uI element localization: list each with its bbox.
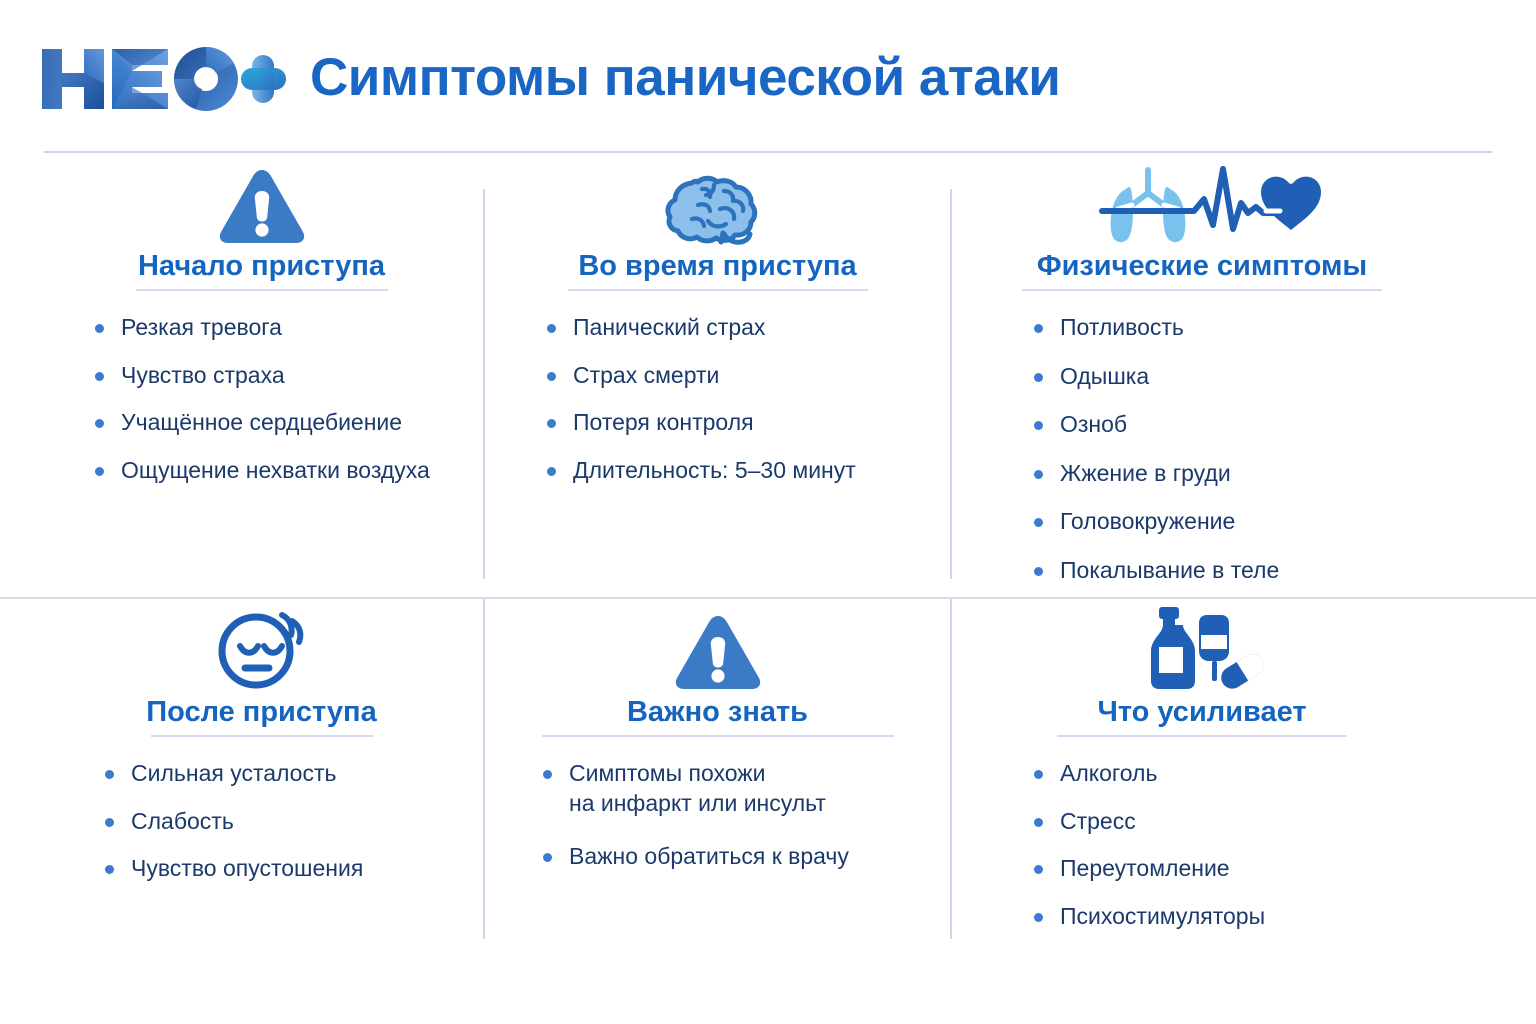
list-item: Важно обратиться к врачу — [543, 842, 950, 871]
card-physical-symptoms: Физические симптомы Потливость Одышка Оз… — [952, 153, 1452, 604]
card-title-underline — [136, 289, 388, 291]
list-item: Алкоголь — [1034, 759, 1452, 788]
cards-grid: Начало приступа Резкая тревога Чувство с… — [0, 153, 1536, 953]
sad-face-icon — [40, 599, 483, 691]
lungs-ecg-heart-icon — [952, 153, 1452, 245]
card-title-underline — [568, 289, 868, 291]
warning-triangle-icon — [485, 599, 950, 691]
list-item: Страх смерти — [547, 361, 950, 390]
list-item: Жжение в груди — [1034, 459, 1452, 488]
symptom-list: Панический страх Страх смерти Потеря кон… — [485, 313, 950, 485]
card-start-of-attack: Начало приступа Резкая тревога Чувство с… — [40, 153, 483, 503]
card-title-underline — [1057, 735, 1347, 737]
list-item: Резкая тревога — [95, 313, 483, 342]
list-item: Панический страх — [547, 313, 950, 342]
card-after-attack: После приступа Сильная усталость Слабост… — [40, 599, 483, 902]
list-item: Слабость — [105, 807, 483, 836]
cards-row-bottom: После приступа Сильная усталость Слабост… — [0, 599, 1536, 953]
card-title: Важно знать — [627, 697, 808, 727]
list-item: Озноб — [1034, 410, 1452, 439]
list-item-line1: Симптомы похожи — [569, 760, 766, 786]
symptom-list: Резкая тревога Чувство страха Учащённое … — [40, 313, 483, 485]
card-title: Физические симптомы — [1037, 251, 1367, 281]
card-title-underline — [151, 735, 373, 737]
symptom-list: Потливость Одышка Озноб Жжение в груди Г… — [952, 313, 1452, 585]
list-item-line2: на инфаркт или инсульт — [569, 789, 950, 818]
warning-triangle-icon — [40, 153, 483, 245]
list-item: Чувство страха — [95, 361, 483, 390]
symptom-list: Сильная усталость Слабость Чувство опуст… — [40, 759, 483, 883]
list-item: Длительность: 5–30 минут — [547, 456, 950, 485]
list-item: Сильная усталость — [105, 759, 483, 788]
card-title-underline — [1022, 289, 1382, 291]
list-item: Потеря контроля — [547, 408, 950, 437]
symptom-list: Алкоголь Стресс Переутомление Психостиму… — [952, 759, 1452, 931]
card-what-aggravates: Что усиливает Алкоголь Стресс Переутомле… — [952, 599, 1452, 949]
page-title: Симптомы панической атаки — [310, 51, 1060, 104]
list-item: Переутомление — [1034, 854, 1452, 883]
card-title: Во время приступа — [578, 251, 856, 281]
card-title: Начало приступа — [138, 251, 385, 281]
list-item: Чувство опустошения — [105, 854, 483, 883]
neo-plus-logo — [40, 43, 288, 115]
list-item: Психостимуляторы — [1034, 902, 1452, 931]
list-item: Головокружение — [1034, 507, 1452, 536]
list-item: Потливость — [1034, 313, 1452, 342]
card-title: Что усиливает — [1097, 697, 1306, 727]
page-header: Симптомы панической атаки — [0, 0, 1536, 151]
card-title-underline — [542, 735, 894, 737]
list-item: Учащённое сердцебиение — [95, 408, 483, 437]
card-important-to-know: Важно знать Симптомы похожи на инфаркт и… — [485, 599, 950, 896]
cards-row-top: Начало приступа Резкая тревога Чувство с… — [0, 153, 1536, 597]
list-item: Ощущение нехватки воздуха — [95, 456, 483, 485]
list-item: Покалывание в теле — [1034, 556, 1452, 585]
card-during-attack: Во время приступа Панический страх Страх… — [485, 153, 950, 503]
brain-icon — [485, 153, 950, 245]
card-title: После приступа — [146, 697, 376, 727]
list-item: Стресс — [1034, 807, 1452, 836]
list-item: Симптомы похожи на инфаркт или инсульт — [543, 759, 950, 818]
bottle-glass-pill-icon — [952, 599, 1452, 691]
symptom-list: Симптомы похожи на инфаркт или инсульт В… — [485, 759, 950, 871]
list-item: Одышка — [1034, 362, 1452, 391]
